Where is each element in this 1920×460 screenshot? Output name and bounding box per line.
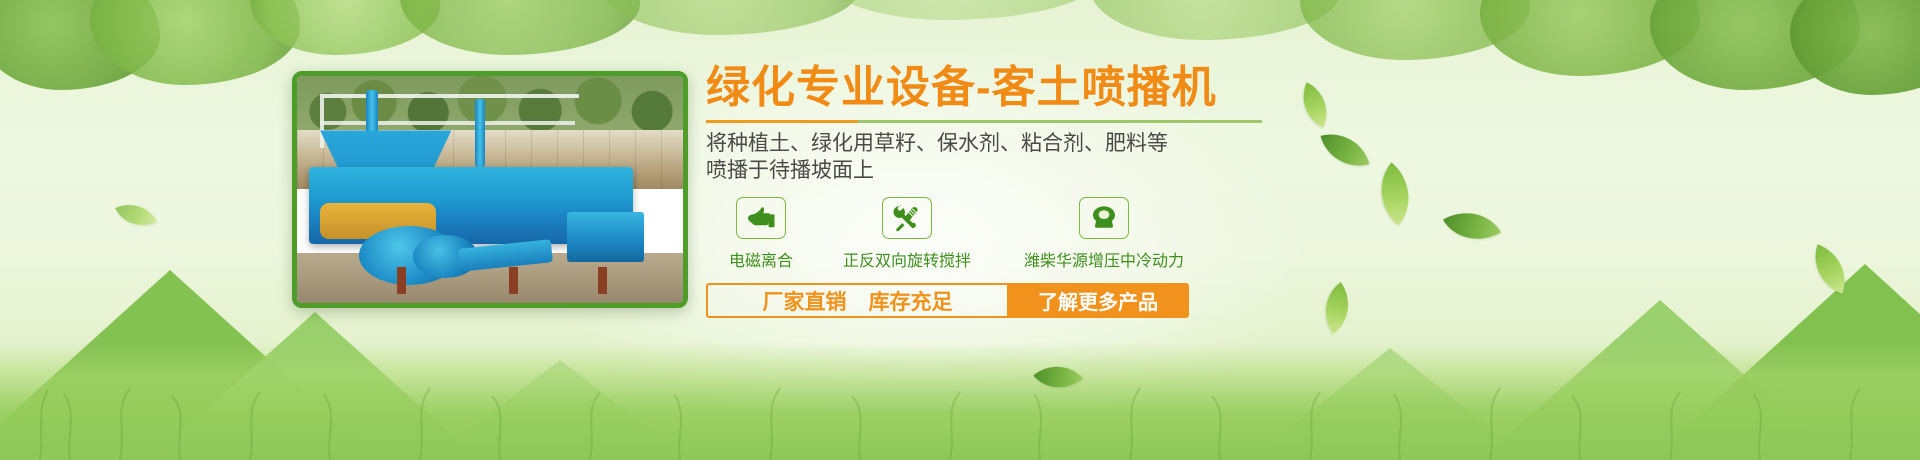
feature-icon-box — [1079, 197, 1129, 239]
headline-divider — [706, 120, 1262, 123]
cta-row: 厂家直销 库存充足 了解更多产品 — [706, 283, 1189, 318]
promo-banner: 绿化专业设备-客土喷播机 将种植土、绿化用草籽、保水剂、粘合剂、肥料等 喷播于待… — [0, 0, 1920, 460]
subtitle-line-2: 喷播于待播坡面上 — [706, 157, 1326, 184]
feature-item-bidirectional-mixing: 正反双向旋转搅拌 — [816, 197, 998, 271]
feature-icon-box — [736, 197, 786, 239]
banner-content: 绿化专业设备-客土喷播机 将种植土、绿化用草籽、保水剂、粘合剂、肥料等 喷播于待… — [706, 62, 1326, 318]
feature-label: 电磁离合 — [729, 247, 793, 271]
wrench-screwdriver-icon — [892, 204, 922, 232]
product-photo — [292, 71, 688, 308]
feature-label: 潍柴华源增压中冷动力 — [1024, 247, 1184, 271]
grass-texture-icon — [0, 350, 1920, 460]
feature-item-electromagnetic-clutch: 电磁离合 — [706, 197, 816, 271]
subtitle-line-1: 将种植土、绿化用草籽、保水剂、粘合剂、肥料等 — [706, 130, 1326, 157]
feature-list: 电磁离合 正反双向旋转搅拌 — [706, 197, 1326, 271]
thumbs-up-icon — [746, 205, 776, 231]
cta-tag-stock: 库存充足 — [869, 286, 953, 316]
engine-gear-icon — [1089, 205, 1119, 231]
banner-headline: 绿化专业设备-客土喷播机 — [706, 62, 1326, 114]
cta-tag-factory-direct: 厂家直销 — [763, 286, 847, 316]
feature-icon-box — [882, 197, 932, 239]
cta-tags: 厂家直销 库存充足 — [706, 283, 1007, 318]
feature-item-weichai-engine: 潍柴华源增压中冷动力 — [998, 197, 1210, 271]
banner-subtitle: 将种植土、绿化用草籽、保水剂、粘合剂、肥料等 喷播于待播坡面上 — [706, 130, 1326, 184]
product-photo-image — [297, 76, 683, 303]
learn-more-button[interactable]: 了解更多产品 — [1007, 283, 1189, 318]
feature-label: 正反双向旋转搅拌 — [843, 247, 971, 271]
